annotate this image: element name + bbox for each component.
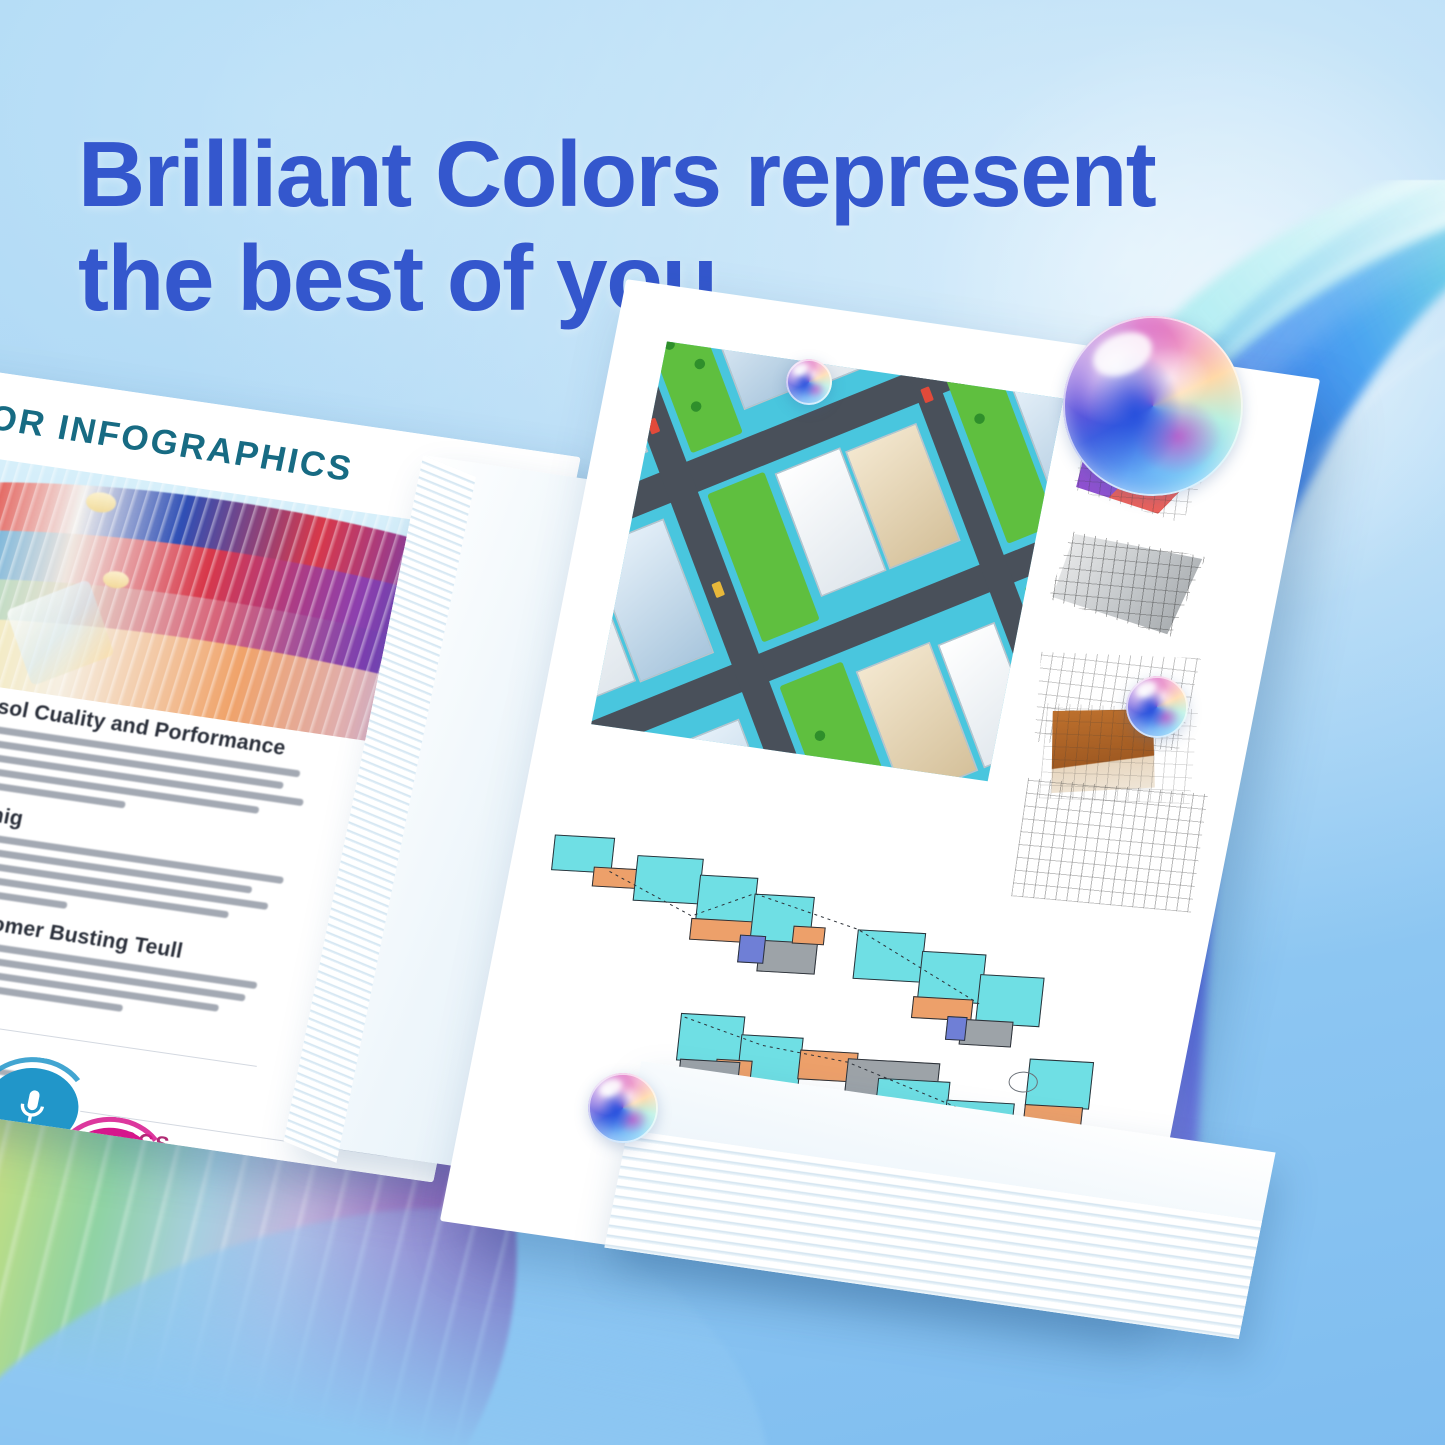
grayscale-site-plan bbox=[1037, 521, 1223, 647]
bubble-small-mid-right bbox=[1126, 676, 1188, 738]
poster-scene: Brilliant Colors represent the best of y… bbox=[0, 0, 1445, 1445]
isometric-city-map bbox=[591, 342, 1063, 782]
bubble-large-top-right bbox=[1063, 316, 1243, 496]
bubble-small-lower-left bbox=[588, 1073, 658, 1143]
bubble-small-center-top bbox=[786, 359, 832, 405]
headline-line-1: Brilliant Colors represent bbox=[78, 122, 1155, 226]
